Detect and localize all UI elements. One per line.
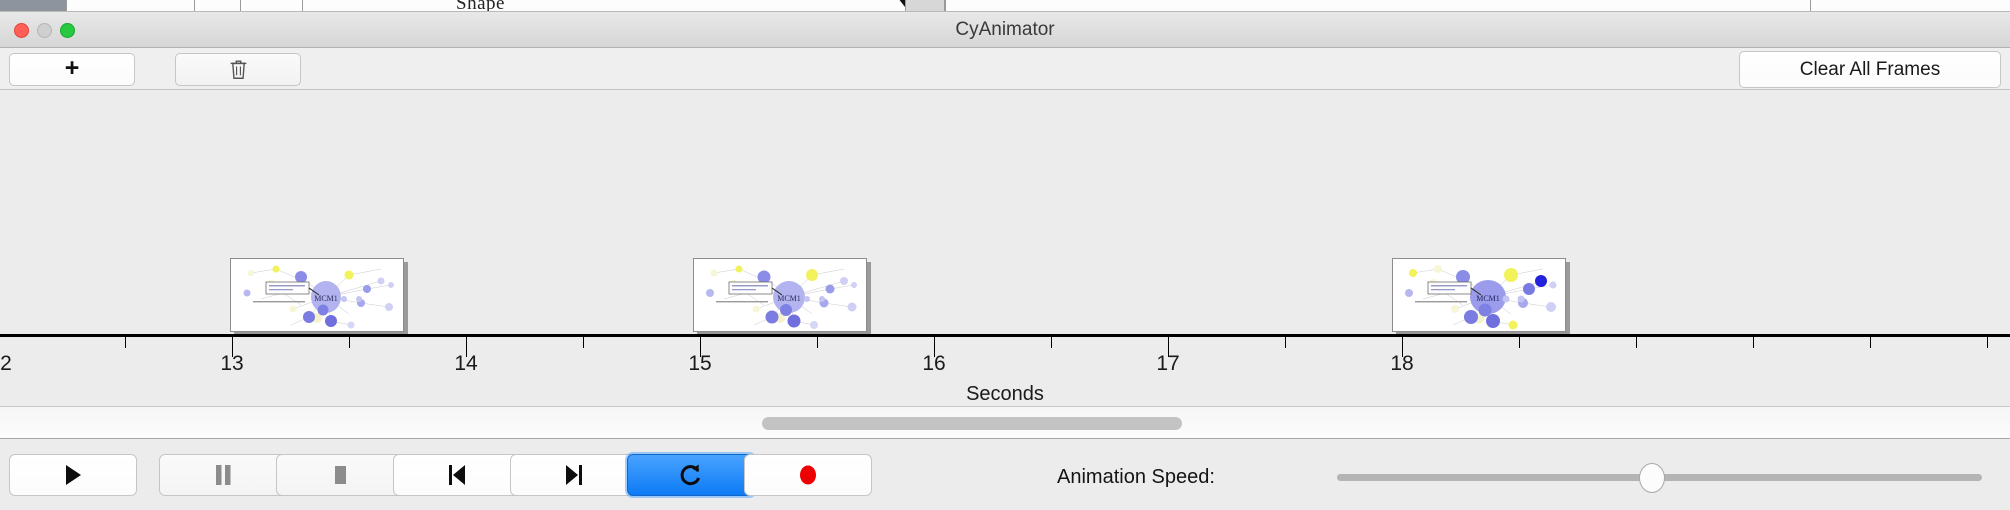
axis-tick-minor <box>817 337 818 348</box>
cyanimator-window: Shape CyAnimator + Clear All Frames <box>0 0 2010 510</box>
timeline-scrollbar[interactable] <box>0 407 2010 439</box>
background-window-sidebar <box>0 0 66 12</box>
axis-title: Seconds <box>0 383 2010 406</box>
svg-text:MCM1: MCM1 <box>777 294 801 303</box>
svg-text:MCM1: MCM1 <box>1476 294 1500 303</box>
background-window-strip: Shape <box>0 0 2010 12</box>
skip-to-start-button[interactable] <box>393 454 521 496</box>
thumbnail-canvas: MCM1 <box>1392 258 1566 332</box>
scrollbar-thumb[interactable] <box>762 417 1182 430</box>
skip-back-icon <box>446 463 468 487</box>
transport-bar: Animation Speed: <box>0 440 2010 510</box>
thumbnail-canvas: MCM1 <box>230 258 404 332</box>
axis-tick-minor <box>125 337 126 348</box>
axis-label: 17 <box>1156 352 1179 376</box>
record-icon <box>796 462 820 488</box>
keyframe-thumbnail[interactable]: MCM1 <box>693 258 871 336</box>
clear-all-frames-button[interactable]: Clear All Frames <box>1739 51 2001 88</box>
stop-button[interactable] <box>276 454 404 496</box>
pause-button[interactable] <box>159 454 287 496</box>
thumbnail-canvas: MCM1 <box>693 258 867 332</box>
stop-icon <box>330 463 350 487</box>
background-window-segment <box>194 0 240 12</box>
play-icon <box>62 463 84 487</box>
svg-text:MCM1: MCM1 <box>314 294 338 303</box>
delete-frame-button[interactable] <box>175 53 301 86</box>
axis-label: 14 <box>454 352 477 376</box>
skip-to-end-button[interactable] <box>510 454 638 496</box>
axis-tick-minor <box>1519 337 1520 348</box>
keyframe-thumbnail[interactable]: MCM1 <box>230 258 408 336</box>
loop-button[interactable] <box>627 454 755 496</box>
axis-tick-minor <box>1285 337 1286 348</box>
keyframe-thumbnail[interactable]: MCM1 <box>1392 258 1570 336</box>
toolbar: + Clear All Frames <box>0 48 2010 90</box>
animation-speed-slider-thumb[interactable] <box>1639 463 1665 493</box>
axis-tick-minor <box>1870 337 1871 348</box>
background-window-segment <box>302 0 905 12</box>
animation-speed-label: Animation Speed: <box>1057 466 1215 489</box>
pause-icon <box>213 463 233 487</box>
skip-forward-icon <box>563 463 585 487</box>
axis-tick-minor <box>1636 337 1637 348</box>
network-graph-icon: MCM1 <box>694 259 867 332</box>
background-window-segment <box>240 0 302 12</box>
window-title: CyAnimator <box>0 12 2010 48</box>
axis-tick-minor <box>583 337 584 348</box>
title-bar: CyAnimator <box>0 12 2010 48</box>
axis-tick-minor <box>1051 337 1052 348</box>
axis-label: 16 <box>922 352 945 376</box>
trash-icon <box>228 58 249 81</box>
add-frame-button[interactable]: + <box>9 53 135 86</box>
axis-tick-minor <box>1753 337 1754 348</box>
timeline-axis <box>0 334 2010 337</box>
background-window-tab <box>905 0 945 12</box>
axis-tick-minor <box>349 337 350 348</box>
background-window-segment <box>66 0 194 12</box>
axis-tick-minor <box>1987 337 1988 348</box>
network-graph-icon: MCM1 <box>231 259 404 332</box>
plus-icon: + <box>65 56 80 81</box>
loop-icon <box>679 462 703 488</box>
axis-label: 2 <box>0 352 12 376</box>
record-button[interactable] <box>744 454 872 496</box>
axis-label: 15 <box>688 352 711 376</box>
background-window-segment <box>1810 0 2010 12</box>
background-window-segment <box>945 0 1810 12</box>
timeline-panel[interactable]: MCM1 <box>0 90 2010 407</box>
background-window-label: Shape <box>456 0 505 12</box>
play-button[interactable] <box>9 454 137 496</box>
axis-label: 18 <box>1390 352 1413 376</box>
axis-label: 13 <box>220 352 243 376</box>
network-graph-icon: MCM1 <box>1393 259 1566 332</box>
